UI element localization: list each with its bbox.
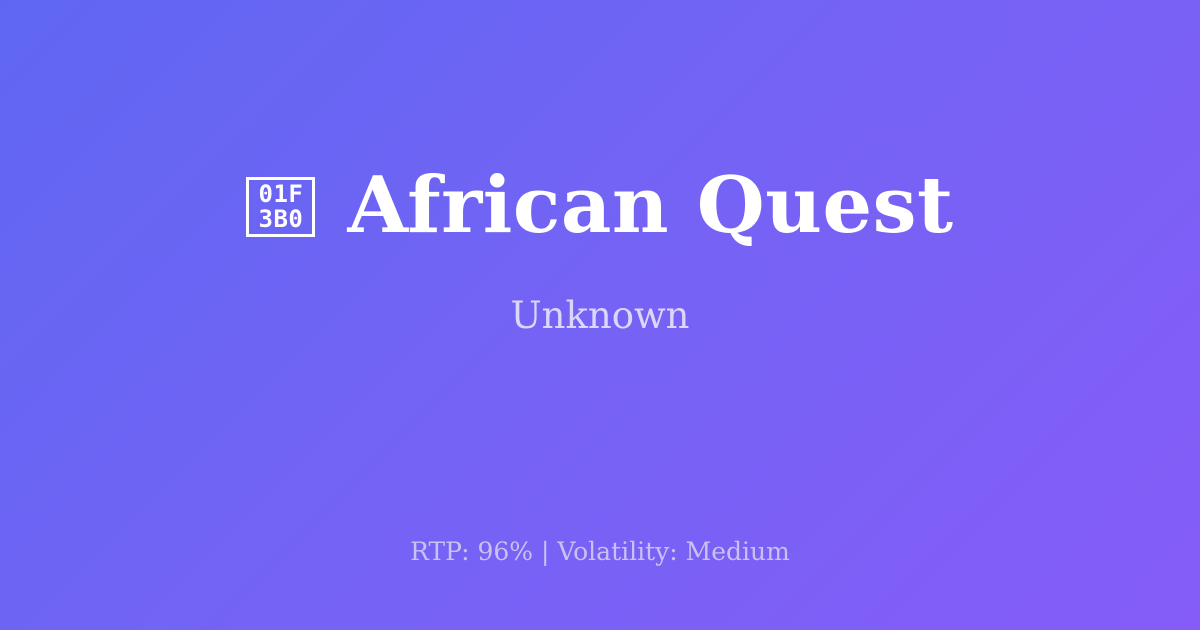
- game-provider-subtitle: Unknown: [510, 297, 689, 334]
- slot-machine-icon: 01F 3B0: [246, 177, 315, 237]
- title-row: 01F 3B0 African Quest: [60, 167, 1140, 245]
- tofu-codepoint-top: 01F: [259, 182, 304, 206]
- hero-block: 01F 3B0 African Quest Unknown: [0, 0, 1200, 500]
- tofu-codepoint-bottom: 3B0: [259, 207, 304, 231]
- game-stats-meta: RTP: 96% | Volatility: Medium: [0, 539, 1200, 564]
- page-title: African Quest: [347, 167, 953, 245]
- game-og-card: 01F 3B0 African Quest Unknown RTP: 96% |…: [0, 0, 1200, 630]
